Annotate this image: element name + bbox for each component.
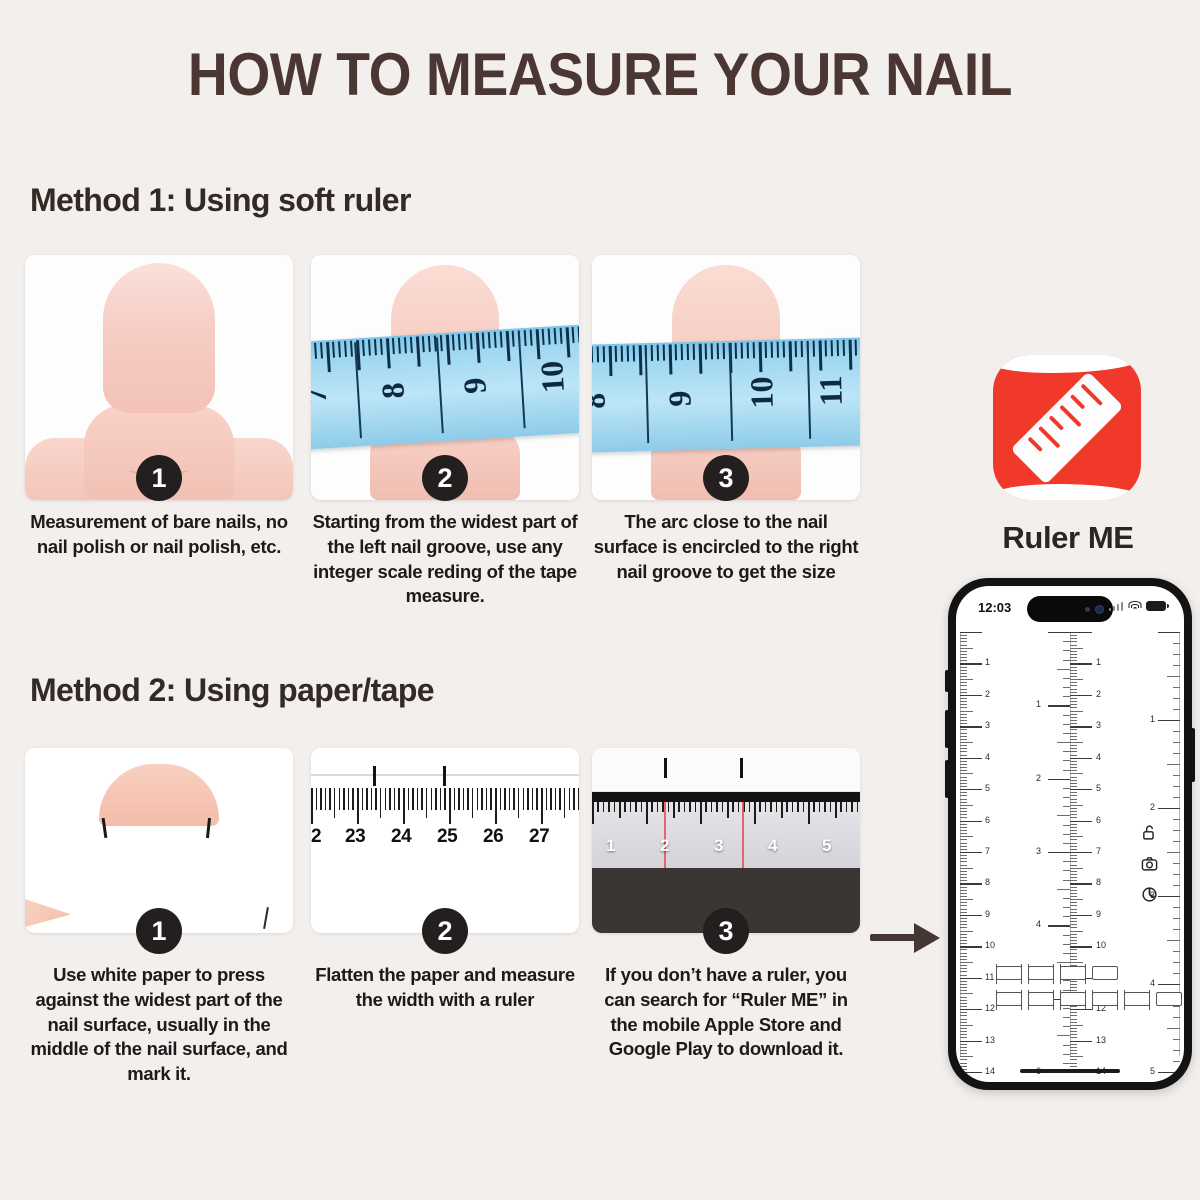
measurement-chip[interactable] [1060,966,1086,980]
step-image-m2-2: 2 23 24 25 26 27 [311,748,579,933]
step-badge: 1 [136,908,182,954]
step-caption: The arc close to the nail surface is enc… [592,510,860,584]
phone-bezel [592,792,860,802]
thumbnail-plate [103,263,215,413]
blue-tape-measure: 7 8 9 10 [311,324,579,450]
volume-up-button[interactable] [945,710,949,748]
step-badge: 3 [703,908,749,954]
silent-switch[interactable] [945,670,949,692]
ruler-number: 26 [483,826,503,848]
ruler-measuring-paper-photo: 2 23 24 25 26 27 [311,748,579,933]
pen-mark-right [206,818,211,838]
pen-mark-left [664,758,667,778]
ruler-app-icon[interactable] [993,355,1141,500]
status-bar-indicators [1109,601,1167,611]
tape-number: 9 [661,390,698,407]
step-image-m2-3: 1 2 3 4 5 [592,748,860,933]
pen-mark-left [373,766,376,786]
ruler-tool-icons[interactable] [1141,824,1158,903]
home-indicator[interactable] [1020,1069,1120,1073]
measurement-widget-row[interactable] [978,992,1168,1006]
nail-arc-imprint [99,764,219,826]
step-caption: Measurement of bare nails, no nail polis… [25,510,293,560]
step-badge: 3 [703,455,749,501]
measurement-chip[interactable] [1156,992,1182,1006]
camera-icon[interactable] [1141,855,1158,872]
page-title: HOW TO MEASURE YOUR NAIL [48,40,1152,109]
sensor-dot-icon [1085,607,1090,612]
phone-screen[interactable]: 12:03 1234567891011121314 [956,586,1184,1082]
tape-number: 8 [374,382,412,400]
icon-wave-top [993,355,1141,373]
ruler-number: 4 [768,836,777,856]
arrow-head [914,923,940,953]
measurement-chip[interactable] [996,966,1022,980]
ruler-tick-marks [311,788,579,824]
battery-icon [1146,601,1166,611]
step-caption: Use white paper to press against the wid… [25,963,293,1087]
ruler-tick-marks [592,802,860,824]
step-caption: If you don’t have a ruler, you can searc… [592,963,860,1062]
measurement-chip[interactable] [1028,966,1054,980]
wifi-icon [1128,601,1141,611]
volume-down-button[interactable] [945,760,949,798]
tape-number: 10 [533,360,572,394]
tape-number: 9 [456,377,494,395]
tape-tick-marks [592,339,860,381]
tape-number: 7 [311,386,334,404]
phone-screen-ruler-photo: 1 2 3 4 5 [592,748,860,933]
paper-pressed-on-nail-photo [25,748,293,933]
ruler-number: 24 [391,826,411,848]
blue-tape-measure: 8 9 10 11 [592,337,860,453]
dynamic-island [1027,596,1113,622]
step-image-m2-1 [25,748,293,933]
phone-ruler-screen: 1 2 3 4 5 [592,802,860,868]
measurement-chip[interactable] [1060,992,1086,1006]
tape-number: 10 [743,376,781,409]
finger-corner [25,899,71,927]
ruler-number: 23 [345,826,365,848]
cellular-signal-icon [1109,601,1124,611]
step-badge: 1 [136,455,182,501]
power-button[interactable] [1191,728,1195,782]
pen-mark-right [443,766,446,786]
method-2-heading: Method 2: Using paper/tape [30,672,434,709]
ruler-number: 3 [714,836,723,856]
phone-mockup: 12:03 1234567891011121314 [948,578,1192,1090]
step-caption: Flatten the paper and measure the width … [311,963,579,1013]
ruler-number: 25 [437,826,457,848]
measurement-chip[interactable] [1092,992,1118,1006]
pen-mark-edge [263,907,269,929]
app-name-label: Ruler ME [953,520,1183,556]
front-camera-icon [1095,605,1104,614]
ruler-number: 27 [529,826,549,848]
ruler-number: 5 [822,836,831,856]
right-arrow-icon [868,915,952,959]
method-1-heading: Method 1: Using soft ruler [30,182,411,219]
paper-strip [592,748,860,792]
tape-number: 8 [592,392,613,409]
status-bar-time: 12:03 [978,600,1011,615]
measurement-chip[interactable] [1028,992,1054,1006]
unlock-icon[interactable] [1141,824,1158,841]
step-badge: 2 [422,455,468,501]
ruler-number: 2 [660,836,669,856]
ruler-number: 1 [606,836,615,856]
measurement-widget-row[interactable] [978,966,1168,980]
step-caption: Starting from the widest part of the lef… [311,510,579,609]
ruler-glyph-icon [1010,371,1123,484]
measurement-chip[interactable] [1124,992,1150,1006]
measurement-chip[interactable] [996,992,1022,1006]
step-badge: 2 [422,908,468,954]
infographic-page: HOW TO MEASURE YOUR NAIL Method 1: Using… [0,0,1200,1200]
measurement-chip[interactable] [1092,966,1118,980]
icon-wave-bottom [993,484,1141,500]
ruler-number: 2 [311,826,321,848]
pen-mark-right [740,758,743,778]
settings-icon[interactable] [1141,886,1158,903]
tape-number: 11 [812,375,850,406]
